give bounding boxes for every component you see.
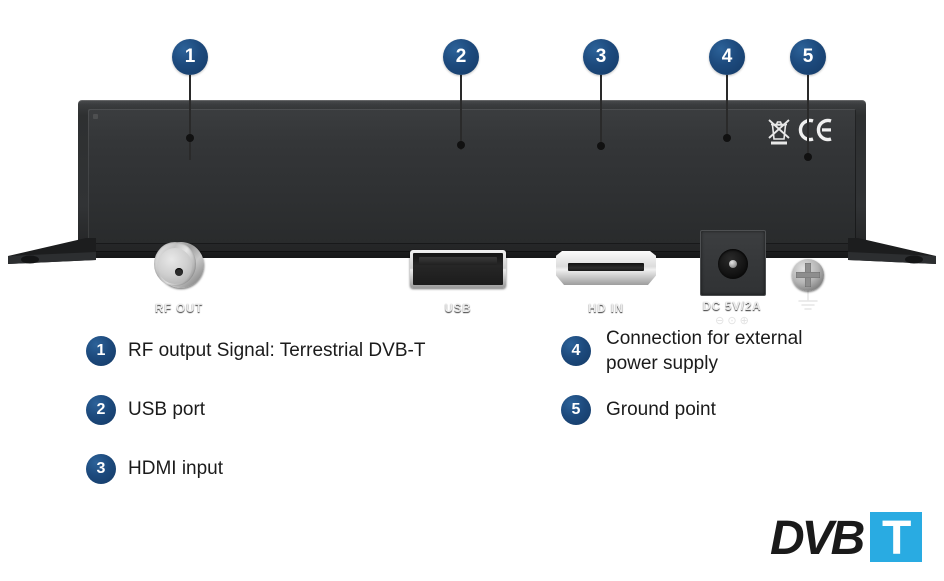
rf-connector-ring (154, 242, 196, 286)
legend-text-2: USB port (128, 397, 528, 422)
port-label-hd-in: HD IN (561, 303, 651, 315)
callout-leader-line-2 (460, 75, 462, 150)
dvbt-logo-t-text: T (882, 512, 911, 565)
callout-anchor-dot-1 (186, 134, 194, 142)
rf-out-connector (154, 240, 204, 290)
legend-text-1: RF output Signal: Terrestrial DVB-T (128, 338, 528, 363)
callout-anchor-dot-5 (804, 153, 812, 161)
callout-leader-line-1 (189, 75, 191, 160)
dvbt-logo: DVB T (768, 508, 928, 566)
earth-ground-icon (795, 290, 821, 314)
dc-jack-barrel (718, 249, 748, 279)
device-rear-panel: RF OUT USB HD IN DC 5V/2A ⊖ ⊙ ⊕ (0, 96, 944, 268)
hdmi-slot (568, 263, 644, 271)
callout-marker-4: 4 (709, 39, 745, 75)
legend-badge-4: 4 (561, 336, 591, 366)
usb-tongue (419, 257, 497, 265)
callout-leader-line-4 (726, 75, 728, 141)
dc-jack-center-pin (729, 260, 737, 268)
port-label-dc-in: DC 5V/2A (687, 301, 777, 313)
rf-connector-center-pin (175, 268, 183, 276)
usb-cavity (413, 253, 503, 285)
callout-marker-5: 5 (790, 39, 826, 75)
dc-polarity-icon: ⊖ ⊙ ⊕ (687, 314, 777, 327)
legend-badge-5: 5 (561, 395, 591, 425)
legend-badge-2: 2 (86, 395, 116, 425)
dc-power-jack (700, 230, 766, 296)
legend-text-5: Ground point (606, 397, 906, 422)
callout-anchor-dot-4 (723, 134, 731, 142)
callout-leader-line-5 (807, 75, 809, 159)
port-label-usb: USB (413, 303, 503, 315)
legend-badge-3: 3 (86, 454, 116, 484)
callout-marker-2: 2 (443, 39, 479, 75)
usb-port (410, 250, 506, 288)
callout-marker-1: 1 (172, 39, 208, 75)
callout-leader-line-3 (600, 75, 602, 150)
callout-anchor-dot-3 (597, 142, 605, 150)
chassis-front-face (88, 109, 856, 244)
rf-connector-face (158, 248, 192, 284)
legend-text-4: Connection for external power supply (606, 326, 906, 376)
port-label-rf-out: RF OUT (134, 303, 224, 315)
hdmi-input-port (556, 251, 656, 285)
callout-anchor-dot-2 (457, 141, 465, 149)
dvbt-logo-dvb-text: DVB (770, 512, 864, 565)
mounting-bracket-left (8, 238, 96, 268)
weee-crossed-out-bin-icon (767, 116, 793, 146)
ce-mark-icon (798, 118, 834, 142)
mounting-bracket-right (848, 238, 936, 268)
ground-screw (792, 259, 824, 291)
callout-marker-3: 3 (583, 39, 619, 75)
legend-badge-1: 1 (86, 336, 116, 366)
legend-text-3: HDMI input (128, 456, 528, 481)
